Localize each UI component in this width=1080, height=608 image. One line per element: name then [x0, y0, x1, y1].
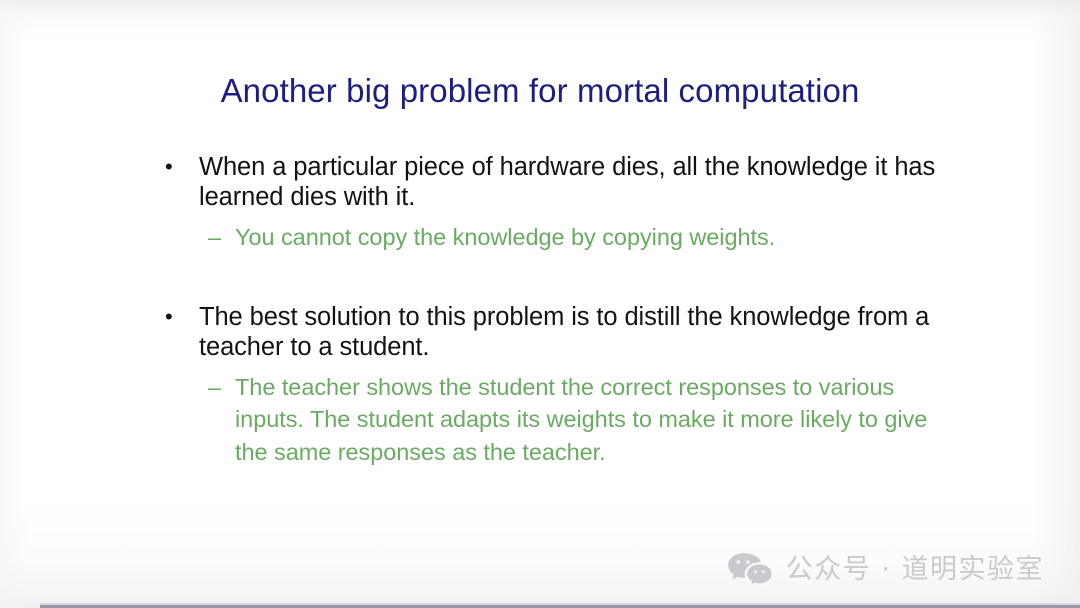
bullet-level2: – The teacher shows the student the corr…	[163, 371, 943, 469]
bullet-marker-dot-icon: •	[165, 302, 185, 332]
watermark-text: 公众号 · 道明实验室	[786, 556, 1044, 583]
bullet-level2: – You cannot copy the knowledge by copyi…	[163, 221, 943, 254]
bullet-level2-text: You cannot copy the knowledge by copying…	[235, 221, 943, 254]
bullet-level1: • When a particular piece of hardware di…	[163, 152, 943, 212]
sub-bullet-marker-dash-icon: –	[208, 371, 221, 404]
watermark: 公众号 · 道明实验室	[727, 552, 1044, 586]
bullet-group: • The best solution to this problem is t…	[163, 302, 943, 469]
slide-body: • When a particular piece of hardware di…	[163, 152, 943, 468]
bullet-level1: • The best solution to this problem is t…	[163, 302, 943, 362]
wechat-icon	[727, 552, 773, 586]
slide-title: Another big problem for mortal computati…	[0, 72, 1080, 110]
bullet-level1-text: When a particular piece of hardware dies…	[199, 152, 943, 212]
sub-bullet-marker-dash-icon: –	[208, 221, 221, 254]
bullet-level2-text: The teacher shows the student the correc…	[235, 371, 943, 469]
bullet-level1-text: The best solution to this problem is to …	[199, 302, 943, 362]
bullet-group: • When a particular piece of hardware di…	[163, 152, 943, 254]
bullet-marker-dot-icon: •	[165, 152, 185, 182]
slide-canvas: Another big problem for mortal computati…	[0, 0, 1080, 608]
